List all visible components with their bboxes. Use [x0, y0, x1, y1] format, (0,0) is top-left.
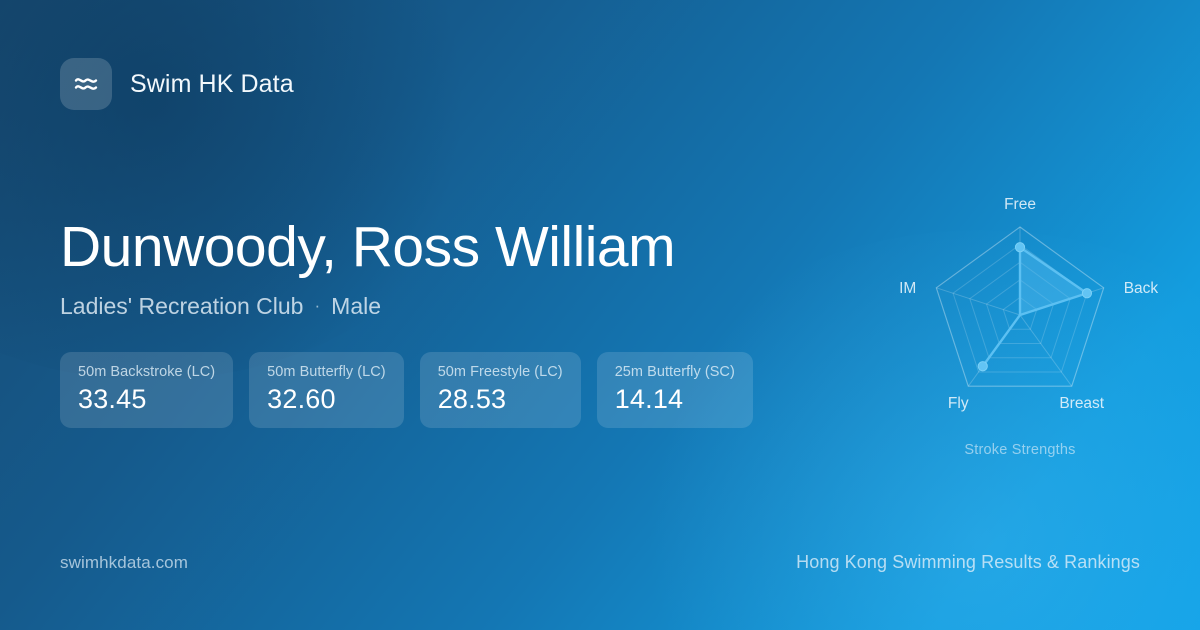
stat-card[interactable]: 25m Butterfly (SC) 14.14	[597, 352, 753, 428]
radar-axis-label: Breast	[1059, 395, 1104, 412]
social-share-card: Swim HK Data Dunwoody, Ross William Ladi…	[0, 0, 1200, 630]
stat-label: 50m Freestyle (LC)	[438, 364, 563, 380]
radar-data-point	[978, 362, 987, 371]
stat-card[interactable]: 50m Freestyle (LC) 28.53	[420, 352, 581, 428]
stat-label: 25m Butterfly (SC)	[615, 364, 735, 380]
radar-axis-label: IM	[899, 280, 916, 297]
radar-axis-label: Free	[1004, 196, 1036, 213]
swimmer-meta: Ladies' Recreation Club · Male	[60, 293, 820, 320]
radar-axis-label: Fly	[948, 395, 969, 412]
stat-value: 14.14	[615, 384, 735, 415]
radar-axis-label: Back	[1124, 280, 1159, 297]
stat-card[interactable]: 50m Butterfly (LC) 32.60	[249, 352, 404, 428]
footer-tagline: Hong Kong Swimming Results & Rankings	[796, 552, 1140, 573]
wave-icon	[60, 58, 112, 110]
radar-data-polygon	[983, 247, 1087, 366]
meta-separator: ·	[314, 297, 320, 314]
radar-axis-spoke	[936, 288, 1020, 315]
footer-site-url: swimhkdata.com	[60, 553, 188, 573]
hero-block: Dunwoody, Ross William Ladies' Recreatio…	[60, 218, 820, 320]
background-shade-left	[0, 0, 500, 380]
brand-name: Swim HK Data	[130, 70, 294, 99]
stat-card-list: 50m Backstroke (LC) 33.45 50m Butterfly …	[60, 352, 753, 428]
gender-label: Male	[331, 293, 381, 320]
brand-header[interactable]: Swim HK Data	[60, 58, 294, 110]
club-name: Ladies' Recreation Club	[60, 293, 303, 320]
stroke-strengths-radar-chart: FreeBackBreastFlyIM	[860, 160, 1180, 480]
radar-axis-spoke	[1020, 315, 1072, 386]
stat-value: 28.53	[438, 384, 563, 415]
radar-data-point	[1015, 243, 1024, 252]
stat-value: 33.45	[78, 384, 215, 415]
stat-label: 50m Butterfly (LC)	[267, 364, 386, 380]
radar-caption: Stroke Strengths	[860, 442, 1180, 458]
page-title: Dunwoody, Ross William	[60, 218, 820, 277]
stat-label: 50m Backstroke (LC)	[78, 364, 215, 380]
stat-value: 32.60	[267, 384, 386, 415]
radar-data-point	[1082, 289, 1091, 298]
stat-card[interactable]: 50m Backstroke (LC) 33.45	[60, 352, 233, 428]
